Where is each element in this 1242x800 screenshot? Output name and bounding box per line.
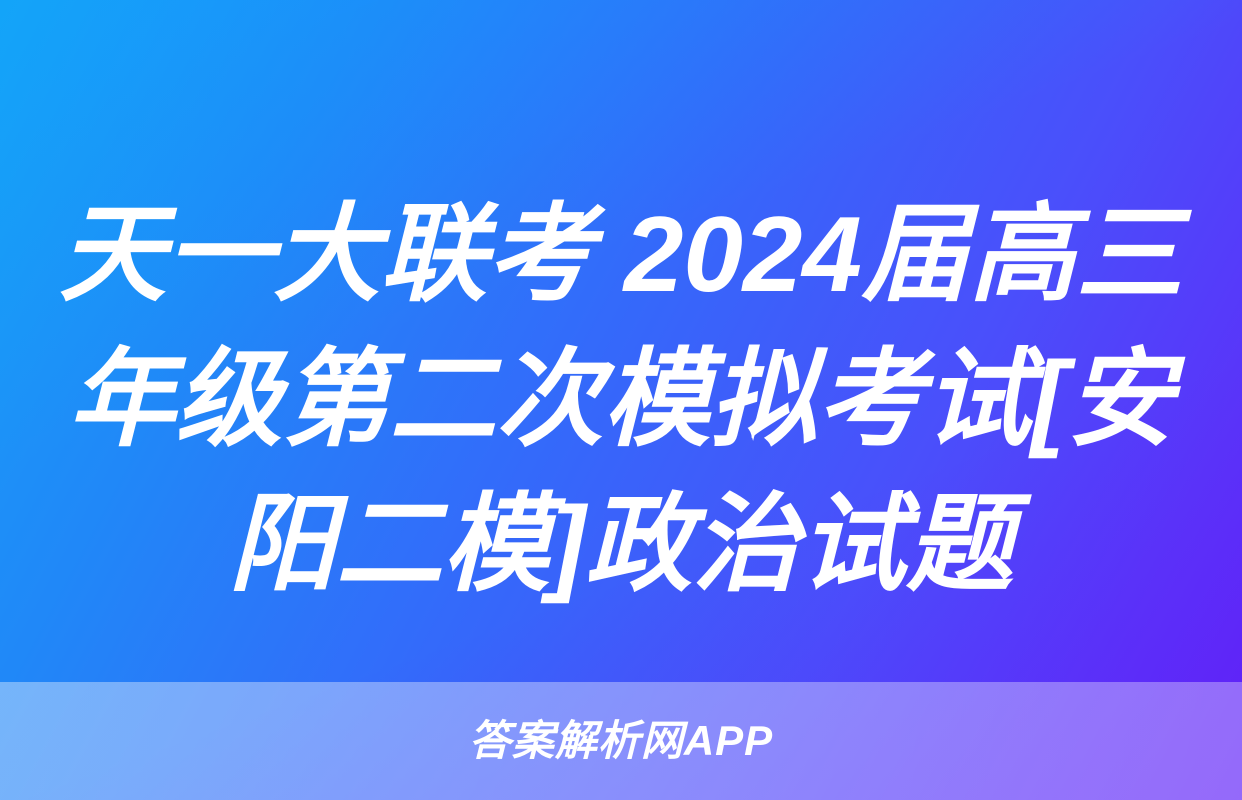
watermark-label: 答案解析网APP bbox=[469, 720, 773, 762]
title-line-3: 阳二模]政治试题 bbox=[229, 472, 1014, 617]
title-line-1: 天一大联考 2024届高三 bbox=[59, 182, 1183, 327]
title-line-2: 年级第二次模拟考试[安 bbox=[68, 327, 1174, 472]
poster-title: 天一大联考 2024届高三 年级第二次模拟考试[安 阳二模]政治试题 bbox=[0, 182, 1242, 644]
poster-container: 天一大联考 2024届高三 年级第二次模拟考试[安 阳二模]政治试题 答案解析网… bbox=[0, 0, 1242, 800]
watermark-band: 答案解析网APP bbox=[0, 682, 1242, 800]
